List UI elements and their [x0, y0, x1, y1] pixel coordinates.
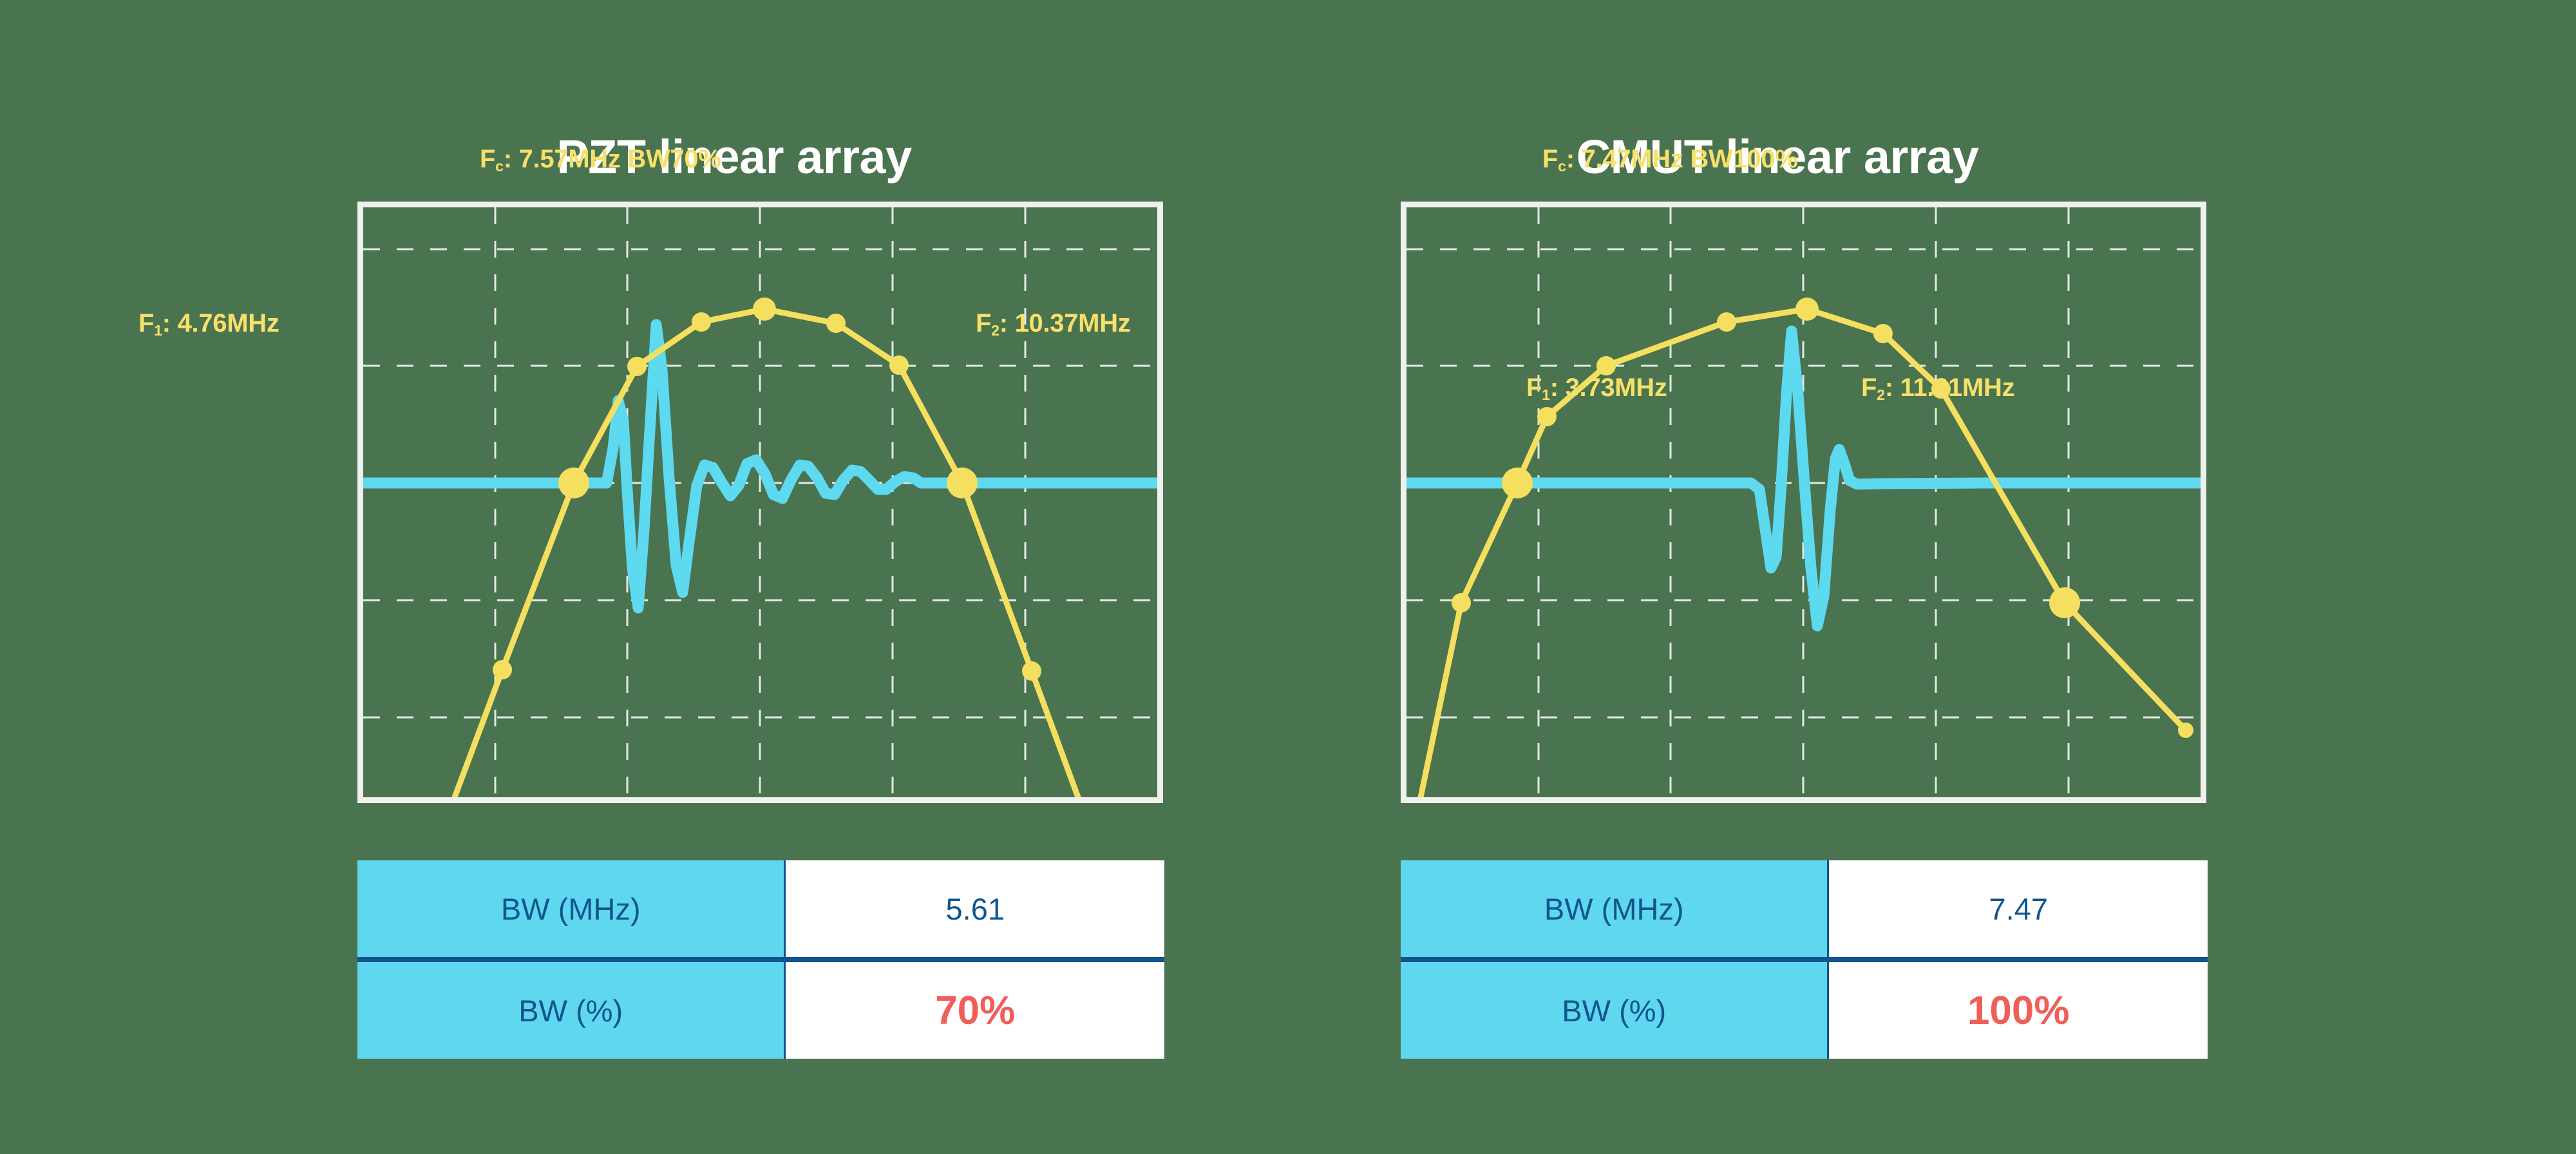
impulse-response-curve-pzt: [363, 325, 1157, 608]
bw-mhz-value-cmut: 7.47: [1828, 860, 2208, 960]
bw-mhz-value-pzt: 5.61: [785, 860, 1164, 960]
bw-percent-label-pzt: BW (%): [357, 960, 785, 1059]
table-row: BW (%) 70%: [357, 960, 1164, 1059]
page-title-pzt: PZT linear array: [303, 129, 1166, 184]
bw-mhz-label-pzt: BW (MHz): [357, 860, 785, 960]
grid-lines-pzt: [363, 207, 1157, 797]
table-row: BW (%) 100%: [1401, 960, 2208, 1059]
spectrum-markers-cmut: [1452, 298, 2193, 738]
table-row: BW (MHz) 5.61: [357, 860, 1164, 960]
chart-plot-area-pzt: [363, 207, 1157, 797]
bw-table-pzt: BW (MHz) 5.61 BW (%) 70%: [357, 860, 1164, 1054]
annotation-center-frequency-cmut: Fc: 7.47MHz BW100%: [1542, 145, 1798, 174]
infographic-stage: PZT linear array: [0, 0, 2576, 1154]
bw-table-cmut: BW (MHz) 7.47 BW (%) 100%: [1401, 860, 2208, 1054]
bw-percent-label-cmut: BW (%): [1401, 960, 1828, 1059]
bw-percent-value-cmut: 100%: [1828, 960, 2208, 1059]
table-row: BW (MHz) 7.47: [1401, 860, 2208, 960]
annotation-f2-pzt: F2: 10.37MHz: [976, 309, 1131, 338]
annotation-f1-pzt: F1: 4.76MHz: [138, 309, 279, 338]
panel-cmut: CMUT linear array: [1346, 0, 2557, 1154]
chart-frame-cmut: [1401, 202, 2206, 803]
annotation-center-frequency-pzt: Fc: 7.57MHz BW70%: [480, 145, 721, 174]
bw-percent-value-pzt: 70%: [785, 960, 1164, 1059]
panel-pzt: PZT linear array: [303, 0, 1513, 1154]
chart-plot-area-cmut: [1406, 207, 2201, 797]
chart-frame-pzt: [357, 202, 1163, 803]
annotation-f1-cmut: F1: 3.73MHz: [1526, 374, 1667, 402]
annotation-f2-cmut: F2: 11.21MHz: [1861, 374, 2014, 402]
bw-mhz-label-cmut: BW (MHz): [1401, 860, 1828, 960]
chart-svg-pzt: [363, 207, 1157, 797]
spectrum-curve-pzt: [455, 298, 1078, 797]
chart-svg-cmut: [1406, 207, 2201, 797]
